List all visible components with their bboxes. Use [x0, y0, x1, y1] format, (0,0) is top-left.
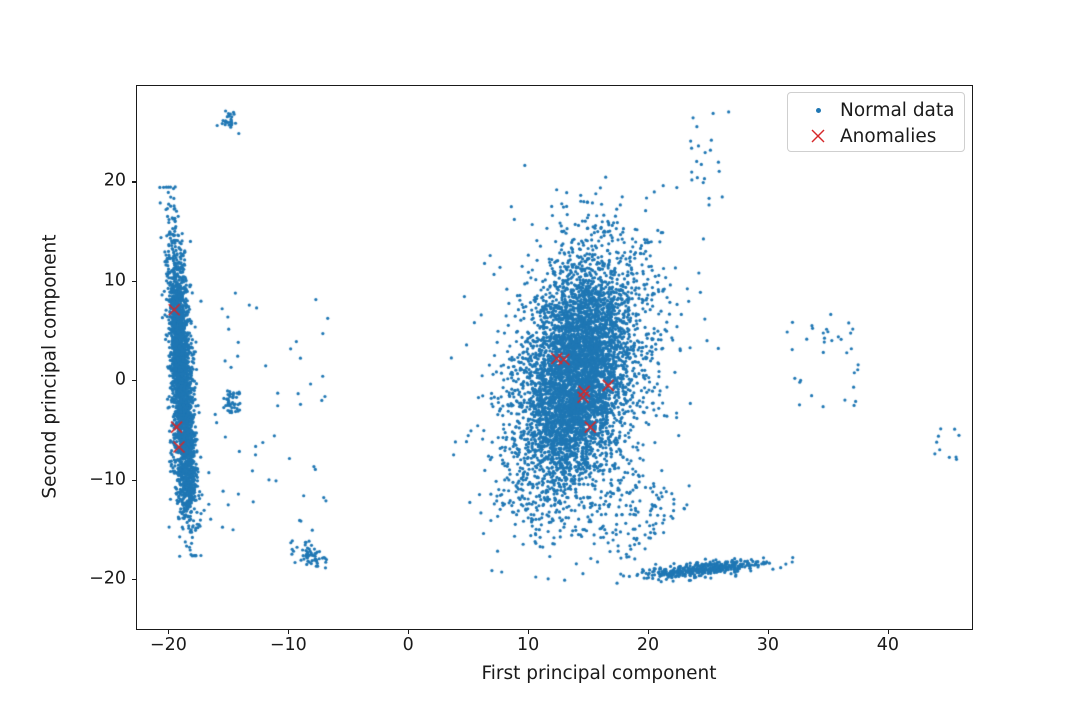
x-tick-label: 10 [517, 637, 539, 655]
legend-label-normal-data: Normal data [840, 100, 955, 121]
x-tick-label: 30 [757, 637, 779, 655]
y-tick [132, 380, 136, 381]
x-tick-label: 20 [637, 637, 659, 655]
y-tick [132, 579, 136, 580]
scatter-plot-canvas [137, 86, 973, 630]
plot-axes-area [136, 85, 973, 630]
x-tick [408, 630, 409, 634]
y-tick [132, 281, 136, 282]
y-axis-label: Second principal component [40, 107, 61, 627]
x-tick-label: 40 [877, 637, 899, 655]
x-tick-label: 0 [403, 637, 414, 655]
chart-legend: Normal data Anomalies [787, 92, 965, 152]
x-axis-label: First principal component [0, 663, 1080, 684]
y-tick-label: 0 [115, 372, 126, 390]
x-tick [288, 630, 289, 634]
y-tick-label: −10 [89, 471, 126, 489]
y-tick-label: 10 [104, 272, 126, 290]
x-tick [528, 630, 529, 634]
legend-entry-normal-data: Normal data [796, 97, 956, 123]
legend-x-icon [796, 126, 840, 146]
legend-label-anomalies: Anomalies [840, 126, 936, 147]
x-tick [888, 630, 889, 634]
y-tick-label: 20 [104, 173, 126, 191]
scatter-figure: −20−10010203040 −20−1001020 First princi… [0, 0, 1080, 720]
legend-dot-icon [796, 108, 840, 113]
y-tick [132, 480, 136, 481]
x-tick [648, 630, 649, 634]
legend-entry-anomalies: Anomalies [796, 123, 956, 149]
y-tick-label: −20 [89, 571, 126, 589]
x-tick-label: −10 [270, 637, 307, 655]
x-tick [168, 630, 169, 634]
x-tick-label: −20 [150, 637, 187, 655]
x-tick [768, 630, 769, 634]
x-axis-label-text: First principal component [481, 663, 716, 684]
y-tick [132, 181, 136, 182]
